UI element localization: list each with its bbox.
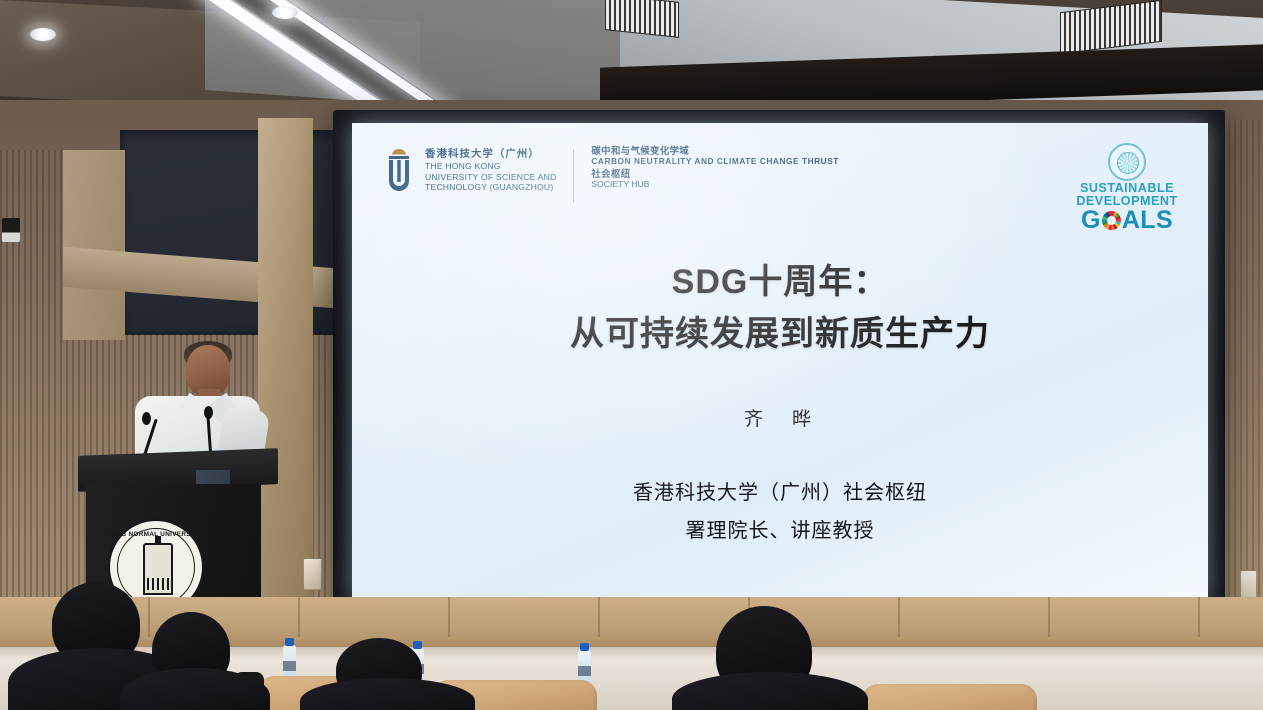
hkust-wordmark: 香港科技大学（广州） THE HONG KONG UNIVERSITY OF S… (425, 145, 556, 193)
slide-affiliation: 香港科技大学（广州）社会枢纽 署理院长、讲座教授 (352, 474, 1208, 550)
slide-affiliation-line-1: 香港科技大学（广州）社会枢纽 (352, 474, 1208, 512)
ceiling-downlight-2 (272, 6, 298, 19)
sdg-goals-g: G (1081, 208, 1101, 233)
hkust-name-en-3: TECHNOLOGY (GUANGZHOU) (425, 182, 556, 193)
hkust-name-en-1: THE HONG KONG (425, 161, 556, 172)
bottle-label-1 (283, 661, 296, 671)
slide-speaker-name: 齐 晔 (352, 404, 1208, 431)
slide-title-line-2: 从可持续发展到新质生产力 (352, 308, 1208, 360)
thrust-name-en: CARBON NEUTRALITY AND CLIMATE CHANGE THR… (591, 156, 839, 167)
wall-switch-plate-right[interactable] (1240, 570, 1257, 600)
slide-title: SDG十周年： 从可持续发展到新质生产力 (352, 256, 1208, 360)
sdg-color-wheel-icon (1102, 211, 1121, 230)
ceiling-downlight-1 (30, 28, 56, 41)
thrust-name-cn: 碳中和与气候变化学域 (591, 145, 839, 156)
microphone-head-2 (204, 406, 213, 419)
bottle-cap-2 (413, 641, 422, 649)
seal-text-top: JING NORMAL UNIVERSITY (110, 531, 202, 538)
wall-pillar (258, 118, 313, 618)
slide-affiliation-line-2: 署理院长、讲座教授 (352, 512, 1208, 550)
microphone-head-1 (142, 412, 151, 425)
sdg-logo: SUSTAINABLE DEVELOPMENT G ALS (1072, 143, 1182, 233)
bottle-cap-3 (580, 643, 589, 651)
hkust-name-cn: 香港科技大学（广州） (425, 145, 556, 160)
lecture-hall-photo: 香港科技大学（广州） THE HONG KONG UNIVERSITY OF S… (0, 0, 1263, 710)
seal-tower-icon (143, 543, 173, 595)
audience-chair-4 (862, 684, 1037, 710)
slide-title-line-1: SDG十周年： (352, 256, 1208, 308)
thrust-block: 碳中和与气候变化学域 CARBON NEUTRALITY AND CLIMATE… (591, 145, 839, 191)
wall-mounted-device (2, 218, 20, 242)
society-hub-en: SOCIETY HUB (591, 179, 839, 190)
water-bottle-1 (283, 645, 296, 679)
society-hub-cn: 社会枢纽 (591, 168, 839, 179)
bottle-label-3 (578, 666, 591, 676)
wall-recess-frame-left (63, 150, 125, 340)
sdg-goals-als: ALS (1122, 208, 1173, 233)
hkust-name-en-2: UNIVERSITY OF SCIENCE AND (425, 172, 556, 183)
sdg-goals-word: G ALS (1072, 208, 1182, 233)
hkust-emblem-icon (382, 147, 416, 193)
slide-header: 香港科技大学（广州） THE HONG KONG UNIVERSITY OF S… (382, 145, 1182, 223)
water-bottle-3 (578, 650, 591, 684)
presentation-slide: 香港科技大学（广州） THE HONG KONG UNIVERSITY OF S… (352, 123, 1208, 601)
bottle-cap-1 (285, 638, 294, 646)
header-divider (573, 149, 574, 203)
wall-switch-plate-left[interactable] (303, 558, 322, 590)
un-emblem-icon (1108, 143, 1146, 181)
hkust-logo: 香港科技大学（广州） THE HONG KONG UNIVERSITY OF S… (382, 145, 556, 193)
